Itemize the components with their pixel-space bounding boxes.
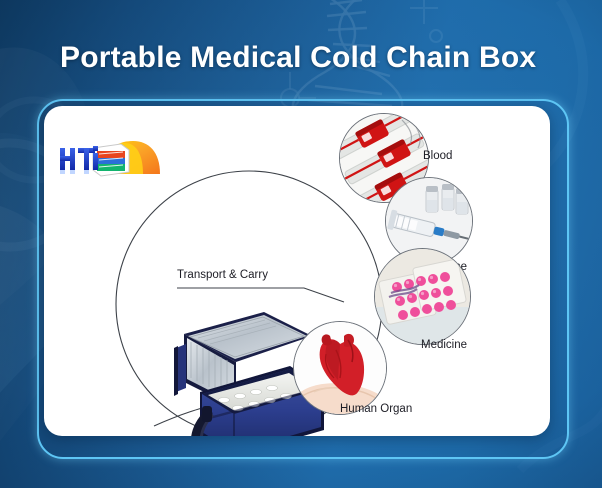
content-card: Transport & Carry xyxy=(44,106,550,436)
node-human-organ-label: Human Organ xyxy=(340,403,412,415)
poster-stage: Portable Medical Cold Chain Box xyxy=(0,0,602,488)
node-medicine-label: Medicine xyxy=(421,339,467,351)
page-title: Portable Medical Cold Chain Box xyxy=(60,41,536,75)
node-blood-label: Blood xyxy=(423,150,452,162)
node-medicine-image xyxy=(374,248,471,345)
cold-chain-diagram: Transport & Carry xyxy=(44,106,550,436)
node-human-organ-image xyxy=(293,321,387,415)
transport-and-carry-label: Transport & Carry xyxy=(177,269,268,281)
